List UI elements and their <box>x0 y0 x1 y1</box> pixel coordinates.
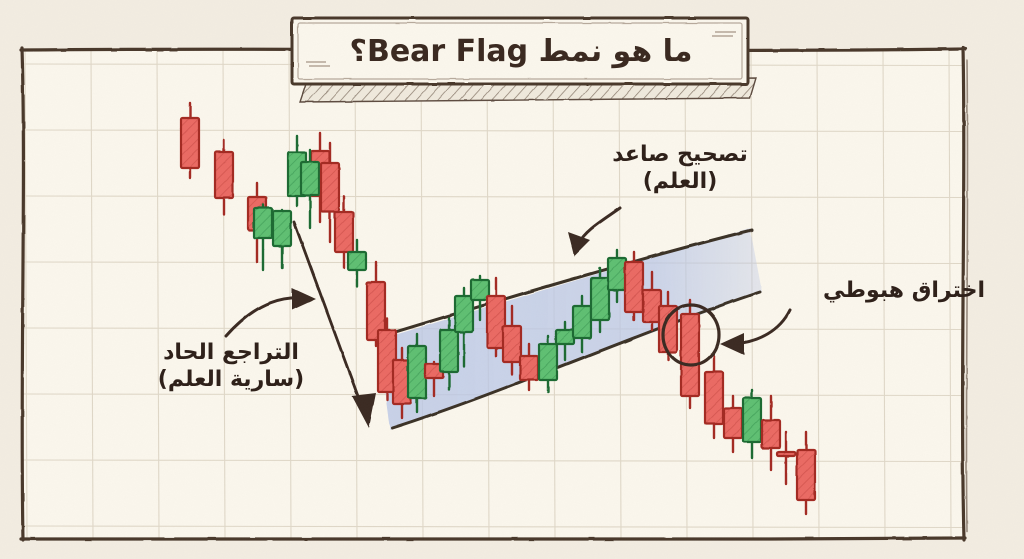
annotation-breakdown: اختراق هبوطي <box>770 278 985 305</box>
annotation-flagpole: التراجع الحاد (سارية العلم) <box>126 340 336 394</box>
annotation-flag: تصحيح صاعد (العلم) <box>572 142 788 196</box>
page-title: ما هو نمط Bear Flag؟ <box>298 22 744 80</box>
